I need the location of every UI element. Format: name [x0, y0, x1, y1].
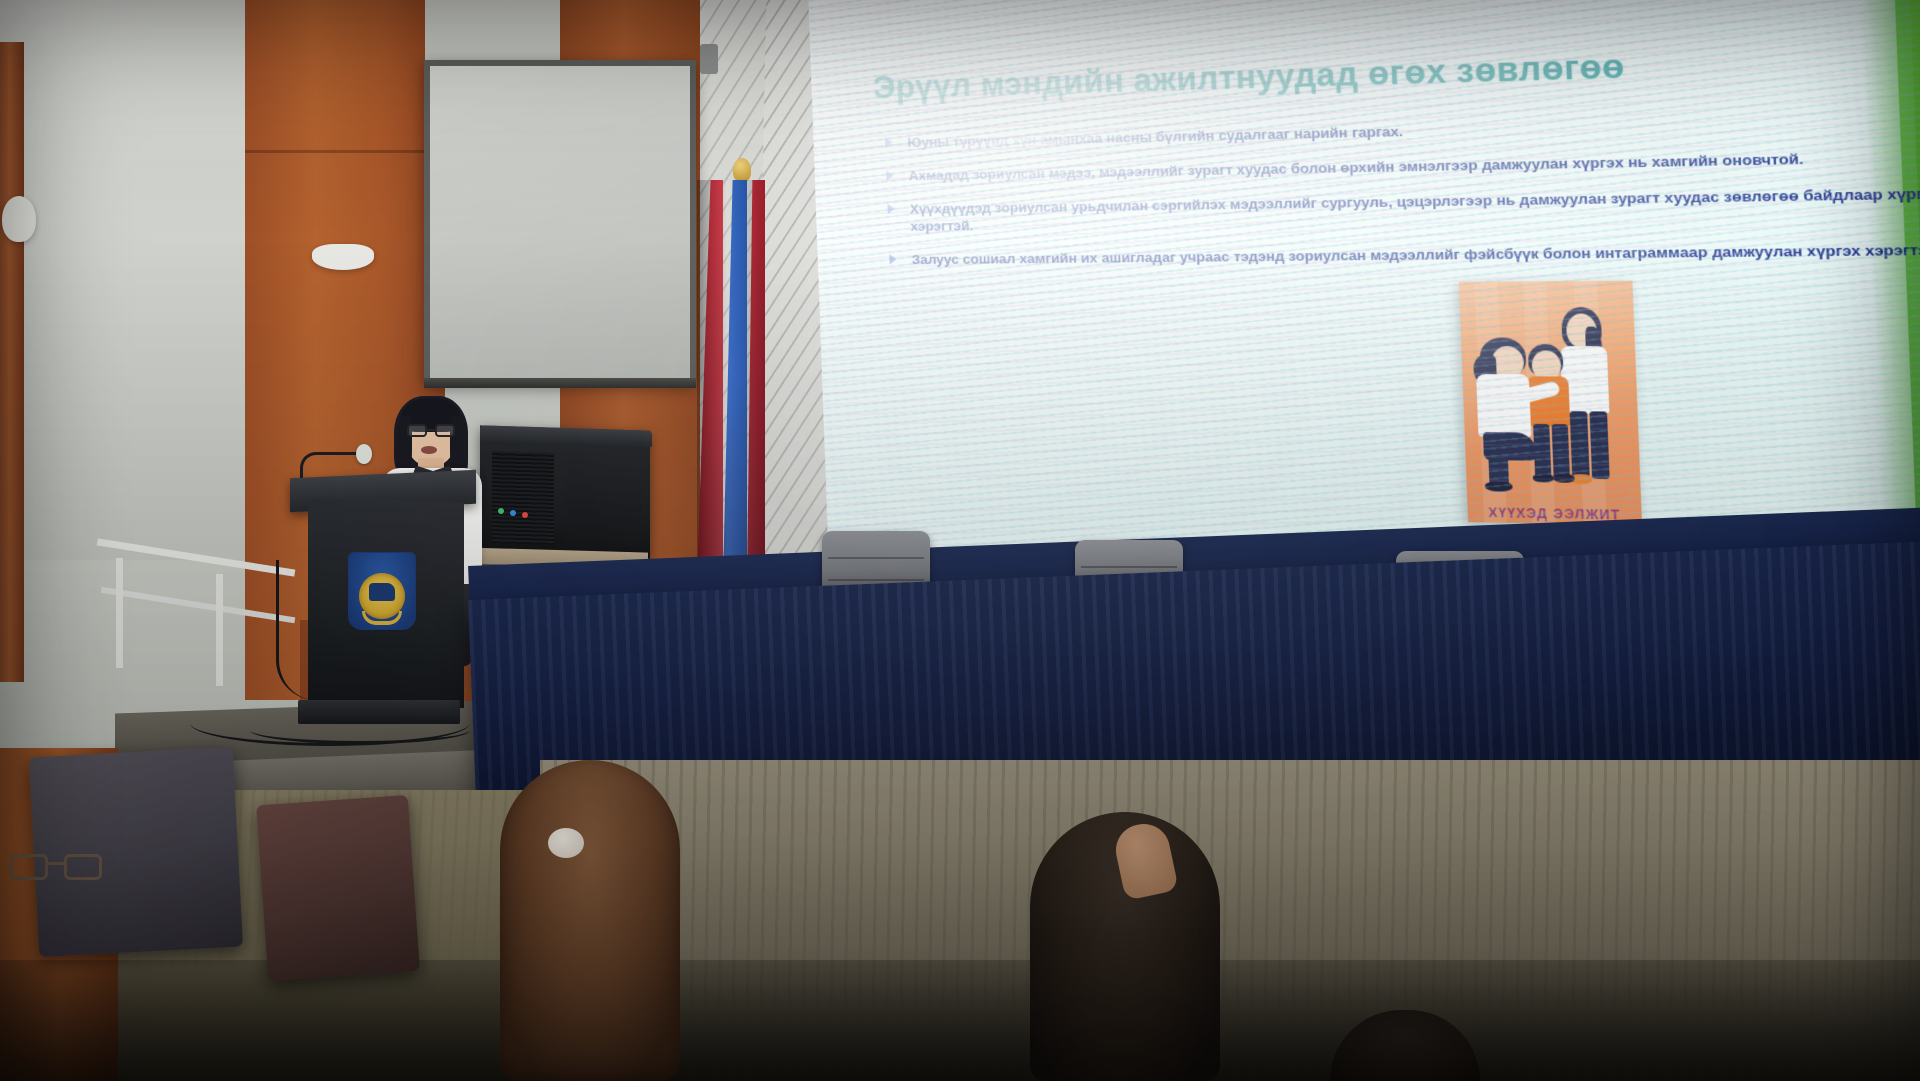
- amplifier-panel: [566, 451, 642, 545]
- slide-bullet-2: Ахмадад зориулсан мэдээ, мэдээллийг зура…: [882, 147, 1920, 185]
- fg-glasses-lens-right: [64, 854, 102, 880]
- stage-railing: [96, 548, 296, 690]
- microphone-head-icon: [356, 444, 372, 464]
- fg-glasses-lens-left: [10, 854, 48, 880]
- eyeglasses-icon: [407, 424, 455, 437]
- slide-bullet-3: Хүүхдүүдэд зориулсан урьдчилан сэргийлэх…: [883, 184, 1920, 235]
- glasses-lens-left: [407, 424, 427, 437]
- state-emblem-icon: [348, 552, 416, 630]
- slide-bullet-3-text: Хүүхдүүдэд зориулсан урьдчилан сэргийлэх…: [910, 185, 1920, 234]
- wall-sconce-left: [2, 196, 36, 242]
- bullet-triangle-icon: [886, 171, 893, 181]
- projection-screen-roller: [700, 44, 718, 74]
- projection-screen-surface: [430, 66, 690, 378]
- loudspeaker-grille: [492, 451, 554, 545]
- foreground-chair-back-1: [29, 747, 243, 957]
- bullet-triangle-icon: [885, 137, 892, 147]
- floor-cable-3: [250, 716, 470, 744]
- led-indicator-red: [522, 512, 528, 518]
- wall-sconce-right: [312, 244, 374, 270]
- glasses-lens-right: [435, 424, 455, 437]
- floor-cable-1: [276, 560, 316, 700]
- bullet-triangle-icon: [887, 204, 894, 214]
- bullet-triangle-icon: [889, 254, 896, 264]
- eyeglasses-on-table: [10, 854, 102, 884]
- projected-slide: Эрүүл мэндийн ажилтнуудад өгөх зөвлөгөө …: [808, 0, 1920, 575]
- led-indicator-green: [498, 508, 504, 514]
- speaker-mouth: [421, 446, 437, 454]
- wood-column-far-left: [0, 42, 24, 682]
- emblem-soyombo-figure: [369, 583, 395, 601]
- slide-bullet-1: Юуны түрүүнд хүн амынхаа насны бүлгийн с…: [881, 109, 1920, 151]
- audience-head-1: [500, 760, 680, 1081]
- glasses-bridge: [427, 429, 435, 431]
- led-indicator-blue: [510, 510, 516, 516]
- emblem-wreath: [362, 611, 402, 625]
- projection-screen-bottom-bar: [424, 378, 696, 388]
- slide-bullet-1-text: Юуны түрүүнд хүн амынхаа насны бүлгийн с…: [907, 123, 1403, 150]
- foreground-chair-back-2: [256, 795, 420, 981]
- slide-illustration: ХҮҮХЭД ЭЭЛЖИТ: [1459, 281, 1642, 526]
- mongolian-flag: [697, 180, 765, 580]
- slide-title: Эрүүл мэндийн ажилтнуудад өгөх зөвлөгөө: [873, 47, 1626, 106]
- fg-glasses-bridge: [48, 862, 64, 865]
- wood-column-seam: [245, 150, 445, 153]
- slide-accent-band-fade: [1858, 0, 1920, 571]
- flag-stripe-red-left: [697, 180, 723, 580]
- slide-bullet-4-text: Залуус сошиал хамгийн их ашигладаг учраа…: [911, 241, 1920, 267]
- illustration-health-worker-figure: [1468, 337, 1559, 497]
- presentation-photo-scene: Эрүүл мэндийн ажилтнуудад өгөх зөвлөгөө …: [0, 0, 1920, 1081]
- flag-stripe-red-right: [747, 180, 765, 580]
- flag-finial-icon: [733, 158, 751, 182]
- slide-bullet-2-text: Ахмадад зориулсан мэдээ, мэдээллийг зура…: [908, 151, 1803, 184]
- hair-tie: [548, 828, 584, 858]
- slide-bullet-list: Юуны түрүүнд хүн амынхаа насны бүлгийн с…: [881, 109, 1920, 284]
- flag-stripe-blue: [723, 180, 747, 580]
- slide-bullet-4: Залуус сошиал хамгийн их ашигладаг учраа…: [885, 240, 1920, 268]
